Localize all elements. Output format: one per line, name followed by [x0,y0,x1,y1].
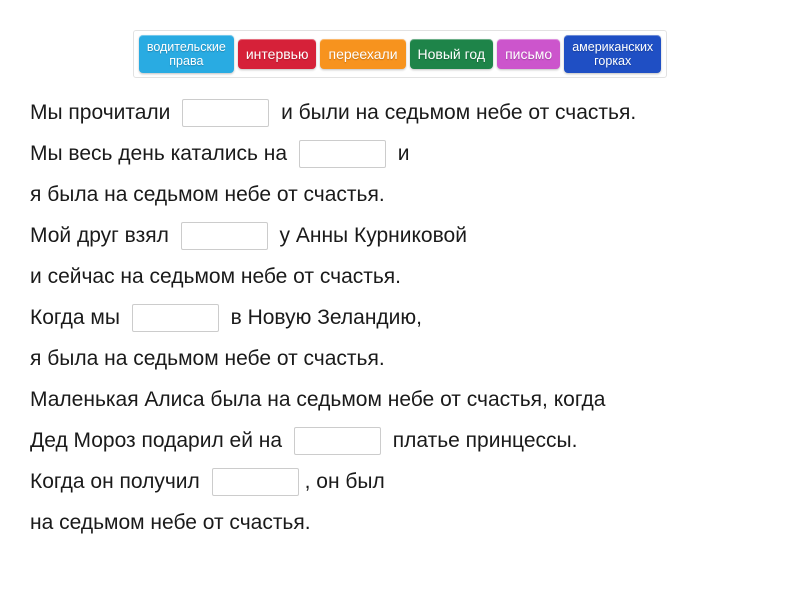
drop-zone-blank[interactable] [181,222,268,250]
fill-in-the-blank-exercise: Мы прочитали и были на седьмом небе от с… [0,78,800,543]
word-tile-4[interactable]: письмо [497,39,560,69]
drop-zone-blank[interactable] [132,304,219,332]
drop-zone-blank[interactable] [212,468,299,496]
word-tile-0[interactable]: водительские права [139,35,234,73]
sentence-text: и [392,142,410,166]
sentence-line: и сейчас на седьмом небе от счастья. [30,256,800,297]
sentence-line: Когда мы в Новую Зеландию, [30,297,800,338]
sentence-text: на седьмом небе от счастья. [30,511,311,535]
sentence-line: Мой друг взял у Анны Курниковой [30,215,800,256]
word-tile-3[interactable]: Новый год [410,39,494,69]
sentence-text: в Новую Зеландию, [225,306,422,330]
sentence-text: Дед Мороз подарил ей на [30,429,288,453]
sentence-line: на седьмом небе от счастья. [30,502,800,543]
sentence-text: Мы весь день катались на [30,142,293,166]
sentence-text: у Анны Курниковой [274,224,467,248]
sentence-text: Маленькая Алиса была на седьмом небе от … [30,388,605,412]
word-tile-tray-container: водительские праваинтервьюпереехалиНовый… [0,0,800,78]
word-tile-5[interactable]: американских горках [564,35,661,73]
sentence-text: Когда мы [30,306,126,330]
sentence-text: Мой друг взял [30,224,175,248]
word-tile-2[interactable]: переехали [320,39,405,69]
word-tile-tray: водительские праваинтервьюпереехалиНовый… [133,30,667,78]
drop-zone-blank[interactable] [294,427,381,455]
drop-zone-blank[interactable] [182,99,269,127]
sentence-line: Когда он получил , он был [30,461,800,502]
sentence-line: Дед Мороз подарил ей на платье принцессы… [30,420,800,461]
drop-zone-blank[interactable] [299,140,386,168]
sentence-line: Мы весь день катались на и [30,133,800,174]
sentence-text: я была на седьмом небе от счастья. [30,347,385,371]
sentence-text: и были на седьмом небе от счастья. [275,101,636,125]
sentence-line: я была на седьмом небе от счастья. [30,174,800,215]
sentence-text: я была на седьмом небе от счастья. [30,183,385,207]
sentence-text: платье принцессы. [387,429,578,453]
sentence-text: Мы прочитали [30,101,176,125]
sentence-line: я была на седьмом небе от счастья. [30,338,800,379]
sentence-text: и сейчас на седьмом небе от счастья. [30,265,401,289]
word-tile-1[interactable]: интервью [238,39,317,69]
sentence-text: Когда он получил [30,470,206,494]
sentence-line: Мы прочитали и были на седьмом небе от с… [30,92,800,133]
sentence-text: , он был [305,470,385,494]
sentence-line: Маленькая Алиса была на седьмом небе от … [30,379,800,420]
